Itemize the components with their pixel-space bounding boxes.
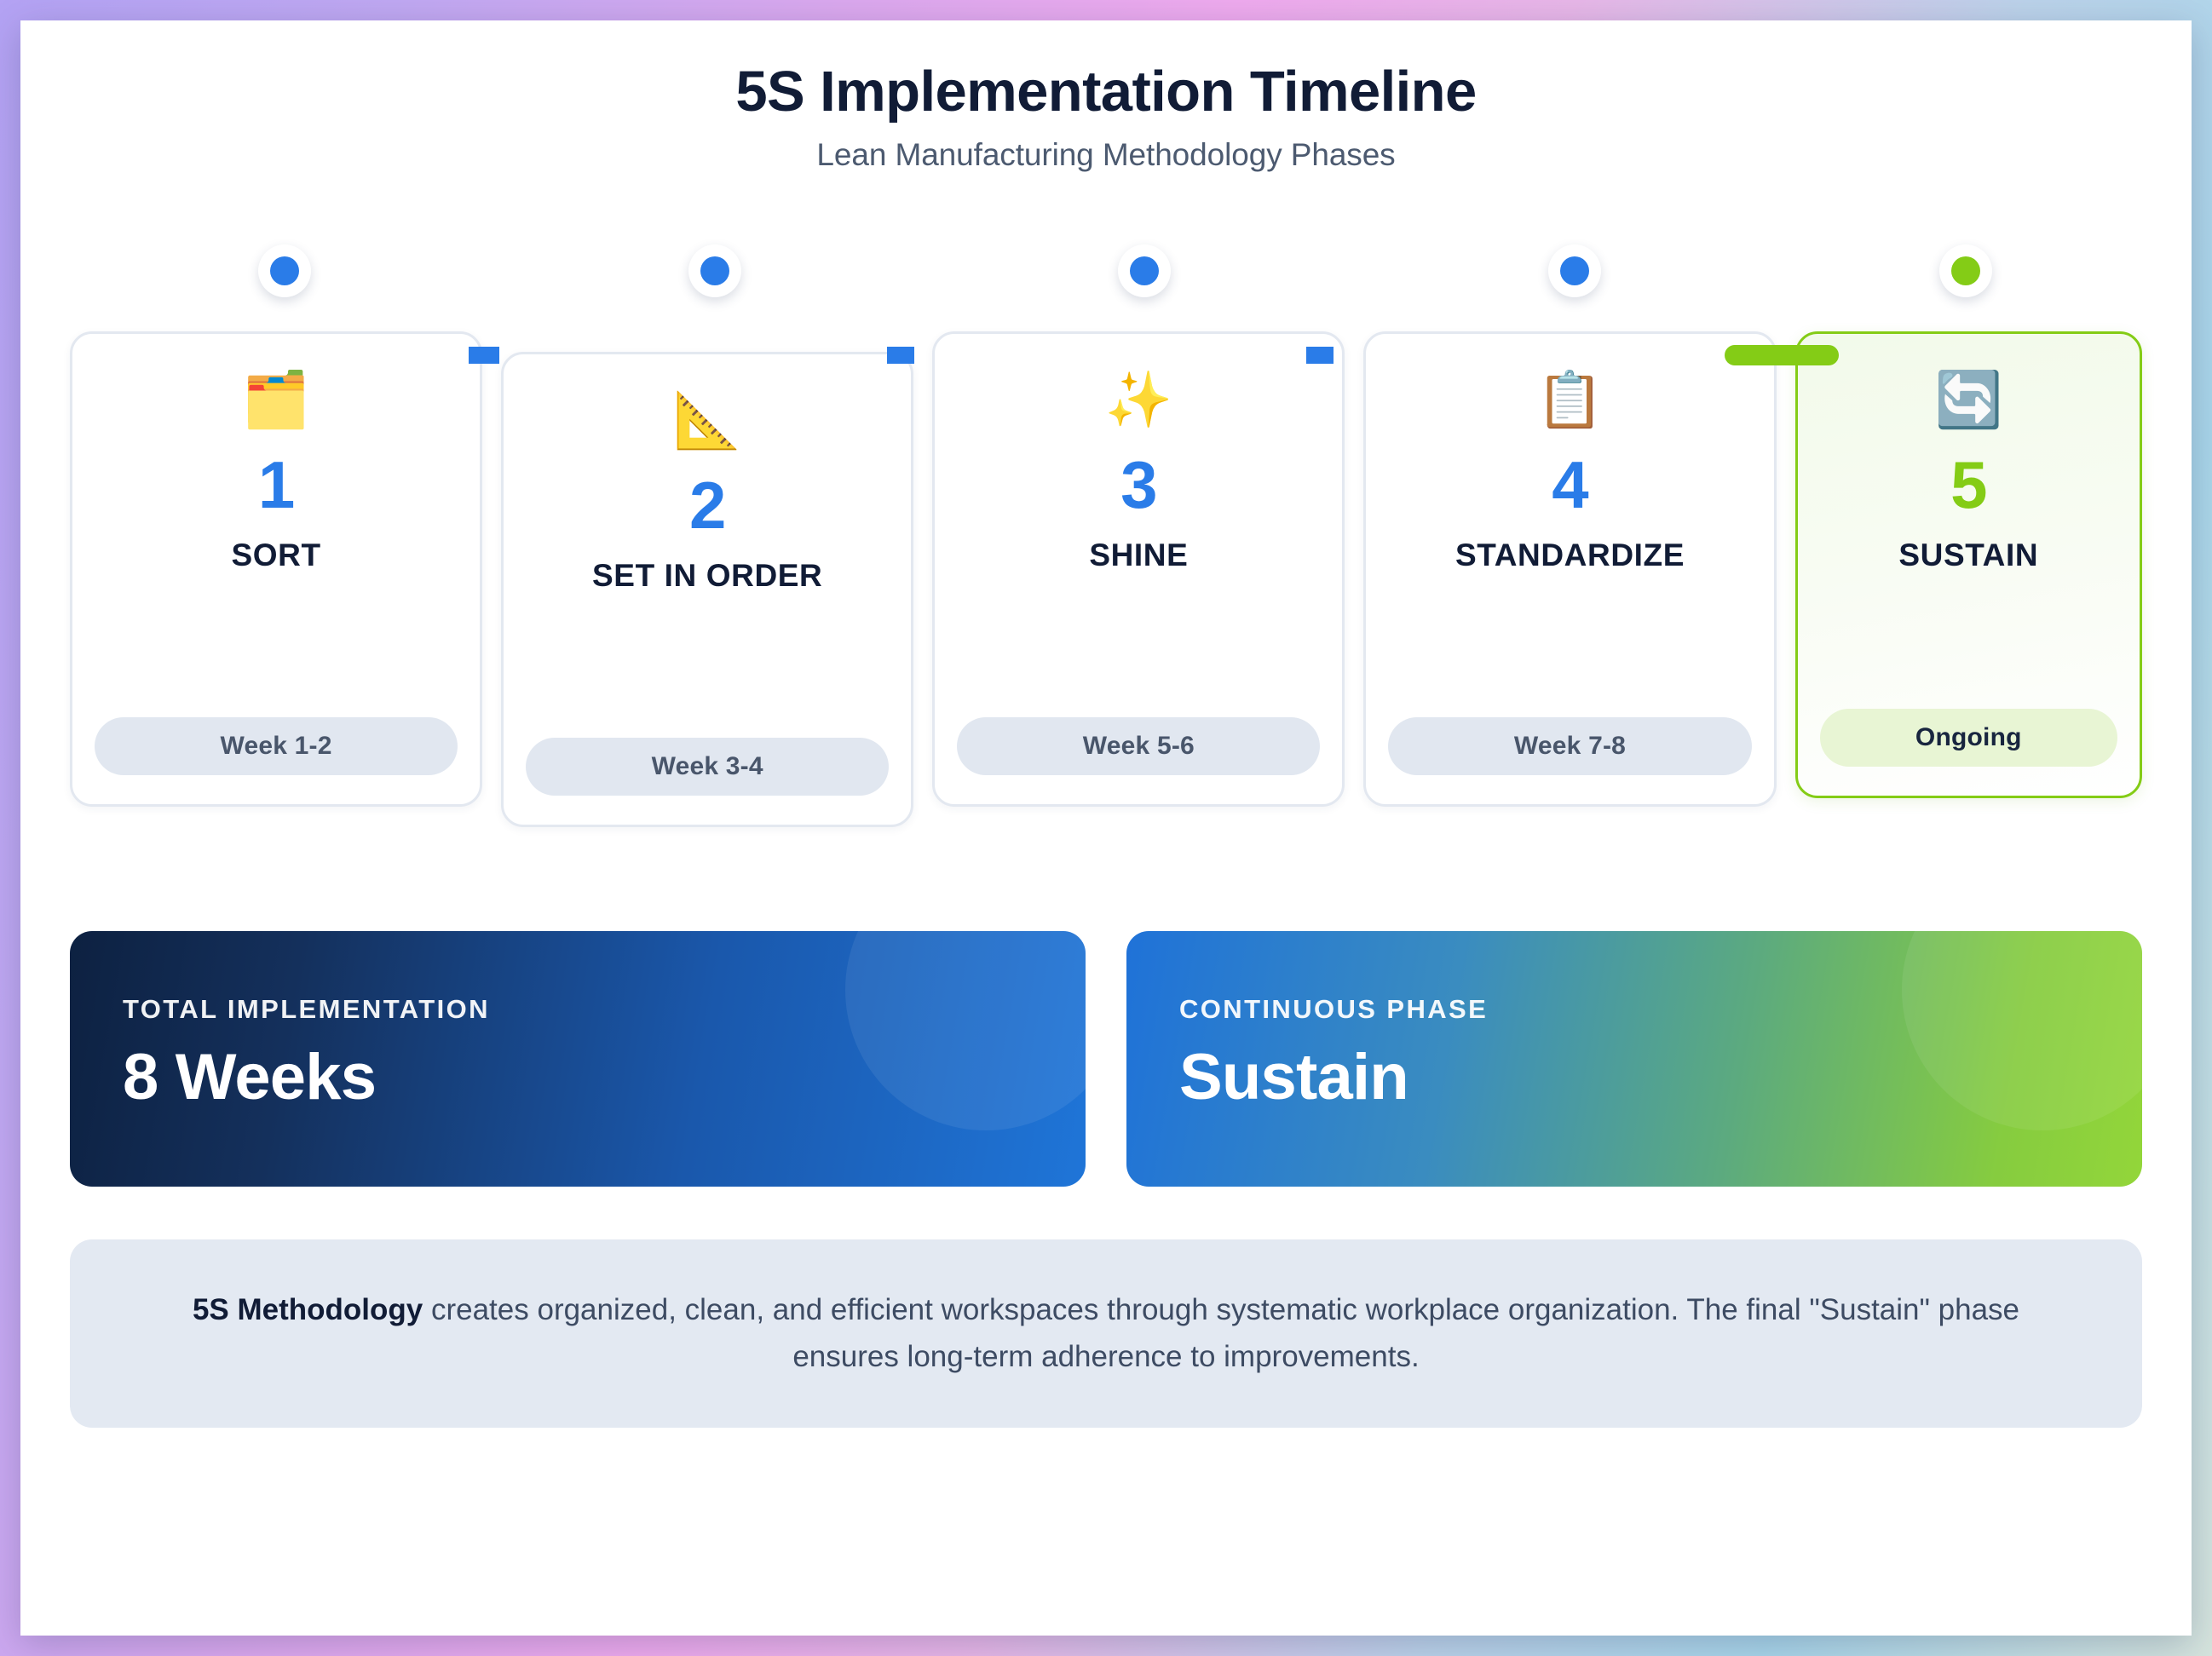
dot-core-icon bbox=[1951, 256, 1980, 285]
triangular-ruler-icon: 📐 bbox=[673, 387, 741, 453]
stat-value: 8 Weeks bbox=[123, 1044, 1033, 1112]
timeline-dot-3[interactable] bbox=[930, 241, 1360, 301]
stat-label: TOTAL IMPLEMENTATION bbox=[123, 994, 1033, 1025]
phase-card-sort[interactable]: 🗂️ 1 SORT Week 1-2 bbox=[70, 331, 482, 807]
timeline-connector-3-4 bbox=[1306, 347, 1334, 364]
phase-number: 1 bbox=[258, 451, 294, 518]
card-index-dividers-icon: 🗂️ bbox=[242, 366, 310, 433]
repeat-sync-icon: 🔄 bbox=[1934, 366, 2002, 433]
phase-number: 3 bbox=[1120, 451, 1156, 518]
timeline: 🗂️ 1 SORT Week 1-2 📐 2 SET IN ORDER Week… bbox=[70, 241, 2142, 837]
methodology-note-body: creates organized, clean, and efficient … bbox=[423, 1293, 2019, 1373]
timeline-connector-4-5 bbox=[1725, 345, 1839, 365]
dot-core-icon bbox=[1130, 256, 1159, 285]
dot-ring-icon bbox=[1118, 244, 1171, 297]
timeline-dot-5[interactable] bbox=[1789, 241, 2142, 301]
methodology-note: 5S Methodology creates organized, clean,… bbox=[70, 1239, 2142, 1428]
phase-number: 5 bbox=[1950, 451, 1986, 518]
methodology-note-lead: 5S Methodology bbox=[193, 1293, 423, 1326]
phase-card-shine[interactable]: ✨ 3 SHINE Week 5-6 bbox=[932, 331, 1345, 807]
dot-ring-icon bbox=[688, 244, 741, 297]
timeline-dots-row bbox=[70, 241, 2142, 301]
phase-duration-badge: Week 5-6 bbox=[957, 717, 1320, 775]
phase-card-set-in-order[interactable]: 📐 2 SET IN ORDER Week 3-4 bbox=[501, 352, 913, 827]
phase-card-standardize[interactable]: 📋 4 STANDARDIZE Week 7-8 bbox=[1363, 331, 1776, 807]
timeline-cards-row: 🗂️ 1 SORT Week 1-2 📐 2 SET IN ORDER Week… bbox=[70, 331, 2142, 827]
dot-core-icon bbox=[700, 256, 729, 285]
phase-name: SET IN ORDER bbox=[592, 557, 822, 595]
timeline-connector-2-3 bbox=[887, 347, 914, 364]
phase-card-sustain[interactable]: 🔄 5 SUSTAIN Ongoing bbox=[1795, 331, 2142, 798]
stat-value: Sustain bbox=[1179, 1044, 2089, 1112]
phase-duration-badge: Ongoing bbox=[1820, 709, 2117, 767]
dot-core-icon bbox=[1560, 256, 1589, 285]
header: 5S Implementation Timeline Lean Manufact… bbox=[70, 60, 2142, 173]
dot-core-icon bbox=[270, 256, 299, 285]
page-content: 5S Implementation Timeline Lean Manufact… bbox=[20, 20, 2192, 1636]
page-title: 5S Implementation Timeline bbox=[70, 60, 2142, 124]
stat-card-total-implementation: TOTAL IMPLEMENTATION 8 Weeks bbox=[70, 931, 1086, 1187]
dot-ring-icon bbox=[1939, 244, 1992, 297]
timeline-dot-2[interactable] bbox=[500, 241, 930, 301]
phase-name: SHINE bbox=[1089, 537, 1188, 574]
phase-duration-badge: Week 1-2 bbox=[95, 717, 458, 775]
phase-name: SORT bbox=[231, 537, 320, 574]
timeline-dot-1[interactable] bbox=[70, 241, 500, 301]
summary-stats-row: TOTAL IMPLEMENTATION 8 Weeks CONTINUOUS … bbox=[70, 931, 2142, 1187]
phase-name: STANDARDIZE bbox=[1455, 537, 1685, 574]
clipboard-icon: 📋 bbox=[1536, 366, 1604, 433]
stat-card-continuous-phase: CONTINUOUS PHASE Sustain bbox=[1126, 931, 2142, 1187]
page-frame: 5S Implementation Timeline Lean Manufact… bbox=[20, 20, 2192, 1636]
phase-number: 4 bbox=[1552, 451, 1587, 518]
phase-number: 2 bbox=[689, 472, 725, 538]
timeline-dot-4[interactable] bbox=[1360, 241, 1790, 301]
phase-name: SUSTAIN bbox=[1898, 537, 2038, 574]
timeline-connector-1-2 bbox=[469, 347, 499, 364]
page-subtitle: Lean Manufacturing Methodology Phases bbox=[70, 137, 2142, 173]
phase-duration-badge: Week 3-4 bbox=[526, 738, 889, 796]
sparkles-icon: ✨ bbox=[1105, 366, 1173, 433]
phase-duration-badge: Week 7-8 bbox=[1388, 717, 1751, 775]
dot-ring-icon bbox=[1548, 244, 1601, 297]
stat-label: CONTINUOUS PHASE bbox=[1179, 994, 2089, 1025]
dot-ring-icon bbox=[258, 244, 311, 297]
